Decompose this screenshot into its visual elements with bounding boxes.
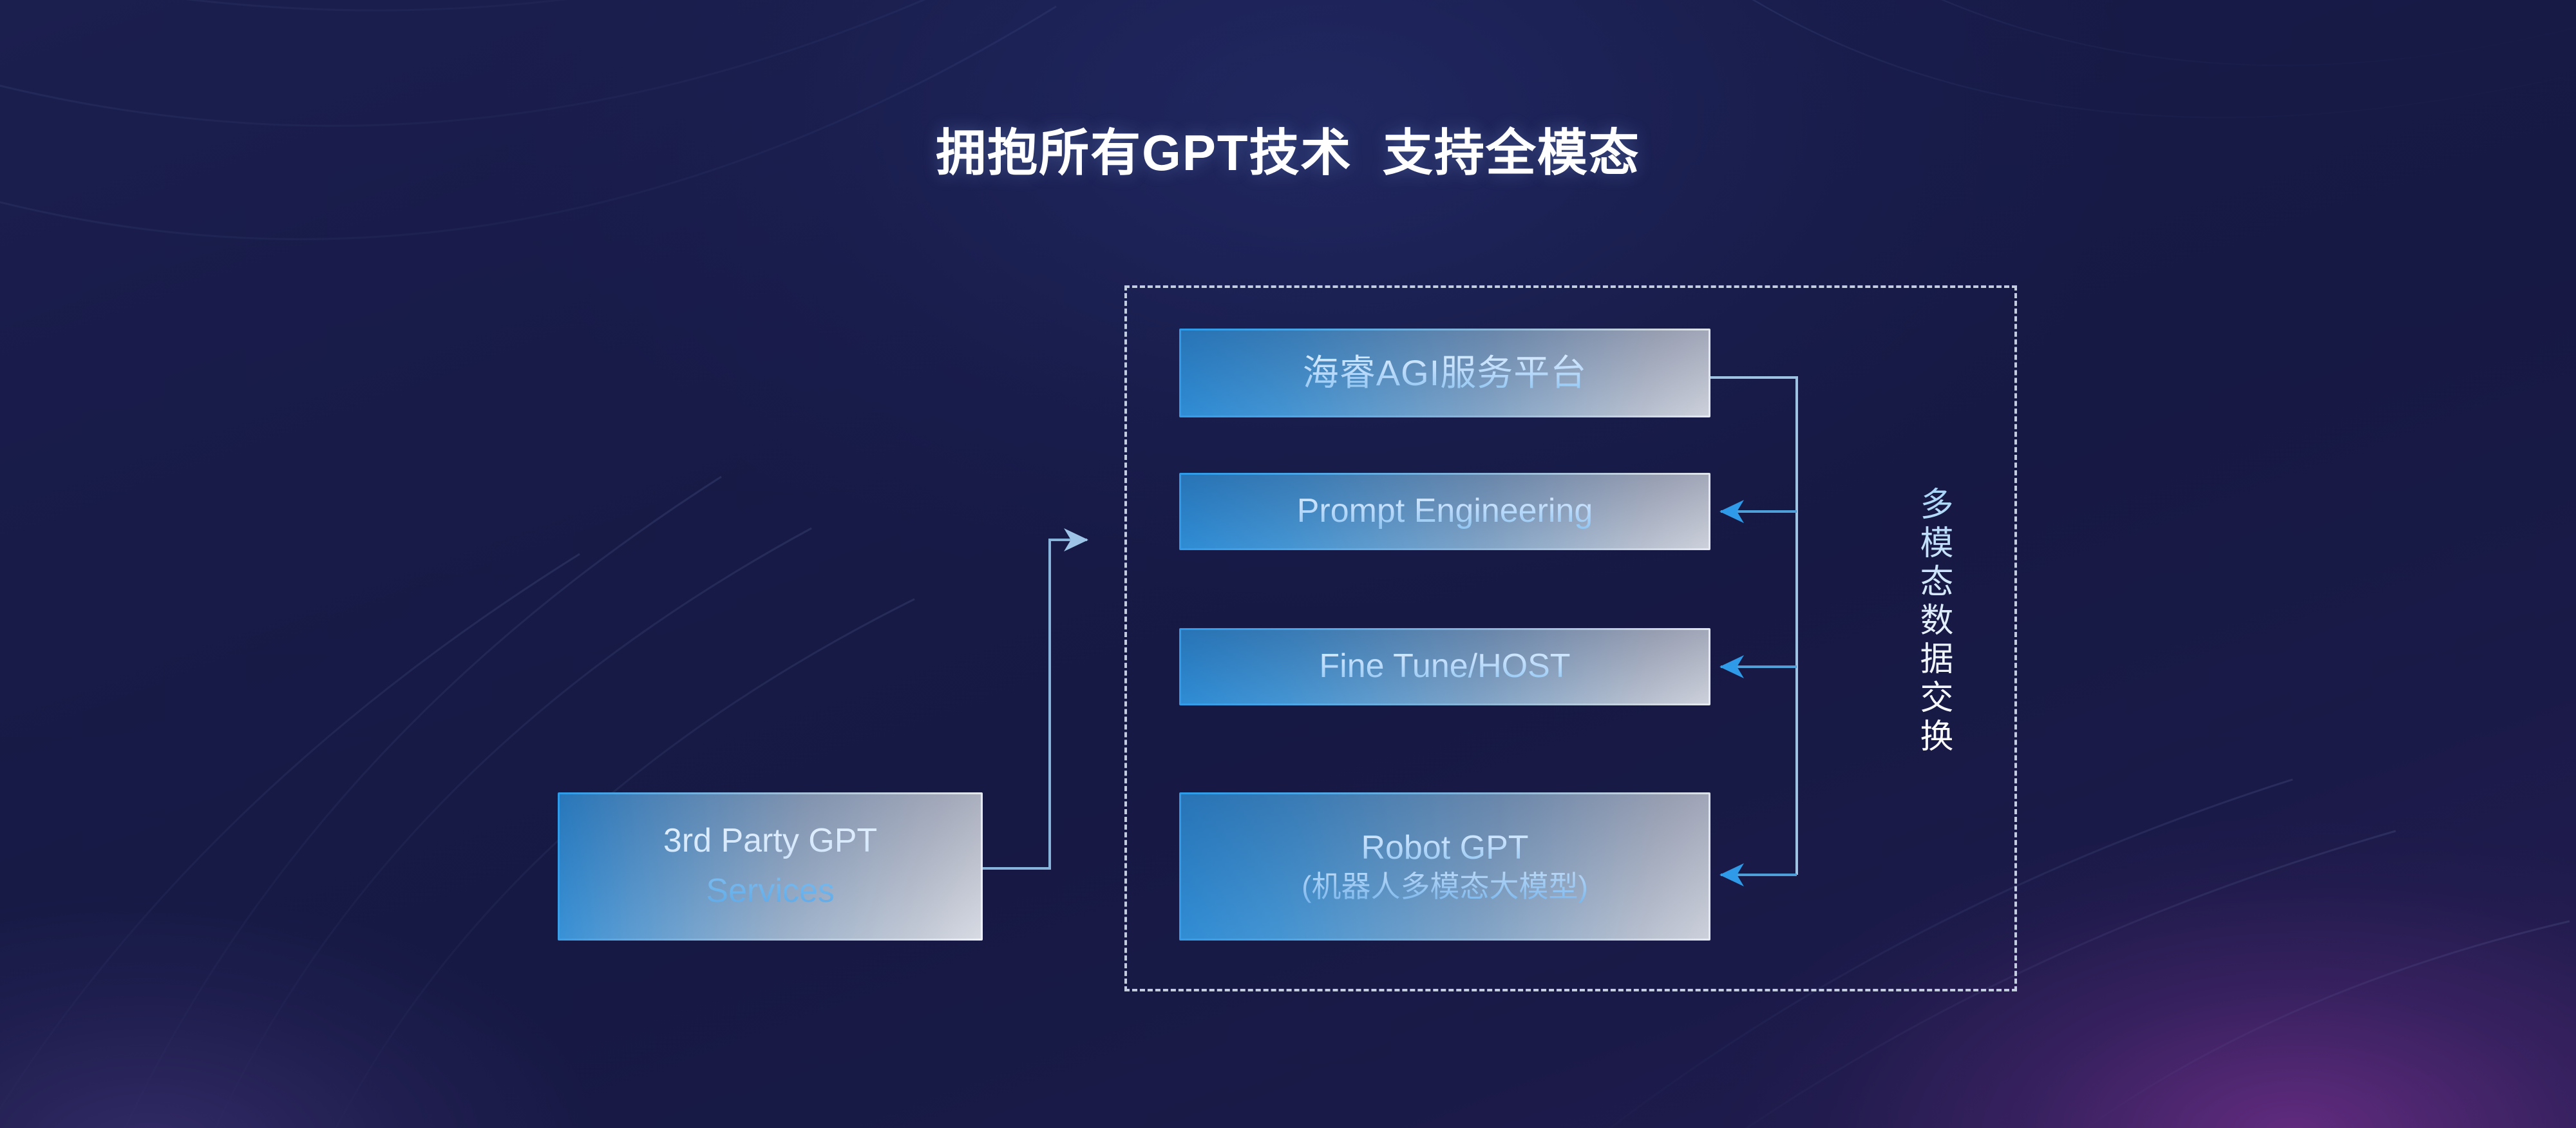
node-third-party-gpt-title: 3rd Party GPT — [663, 822, 877, 860]
page-title: 拥抱所有GPT技术 支持全模态 — [0, 113, 2576, 185]
node-prompt-engineering-title: Prompt Engineering — [1297, 492, 1593, 530]
node-agi-platform[interactable]: 海睿AGI服务平台 — [1179, 329, 1710, 417]
node-robot-gpt-title: Robot GPT — [1361, 829, 1528, 867]
node-agi-platform-title: 海睿AGI服务平台 — [1303, 352, 1587, 394]
label-multimodal-data-exchange: 多模态数据交换 — [1908, 486, 1953, 757]
node-fine-tune-host-title: Fine Tune/HOST — [1319, 647, 1570, 685]
node-robot-gpt-subtitle: (机器人多模态大模型) — [1302, 870, 1588, 904]
node-third-party-gpt-subtitle: Services — [706, 872, 834, 911]
node-robot-gpt[interactable]: Robot GPT (机器人多模态大模型) — [1179, 792, 1710, 941]
node-prompt-engineering[interactable]: Prompt Engineering — [1179, 473, 1710, 550]
wire-thirdparty-to-region — [983, 540, 1087, 868]
node-third-party-gpt[interactable]: 3rd Party GPT Services — [558, 792, 983, 941]
node-fine-tune-host[interactable]: Fine Tune/HOST — [1179, 628, 1710, 705]
slide-canvas: 拥抱所有GPT技术 支持全模态 海睿AGI服务平台 Prompt Engi — [0, 0, 2576, 1128]
